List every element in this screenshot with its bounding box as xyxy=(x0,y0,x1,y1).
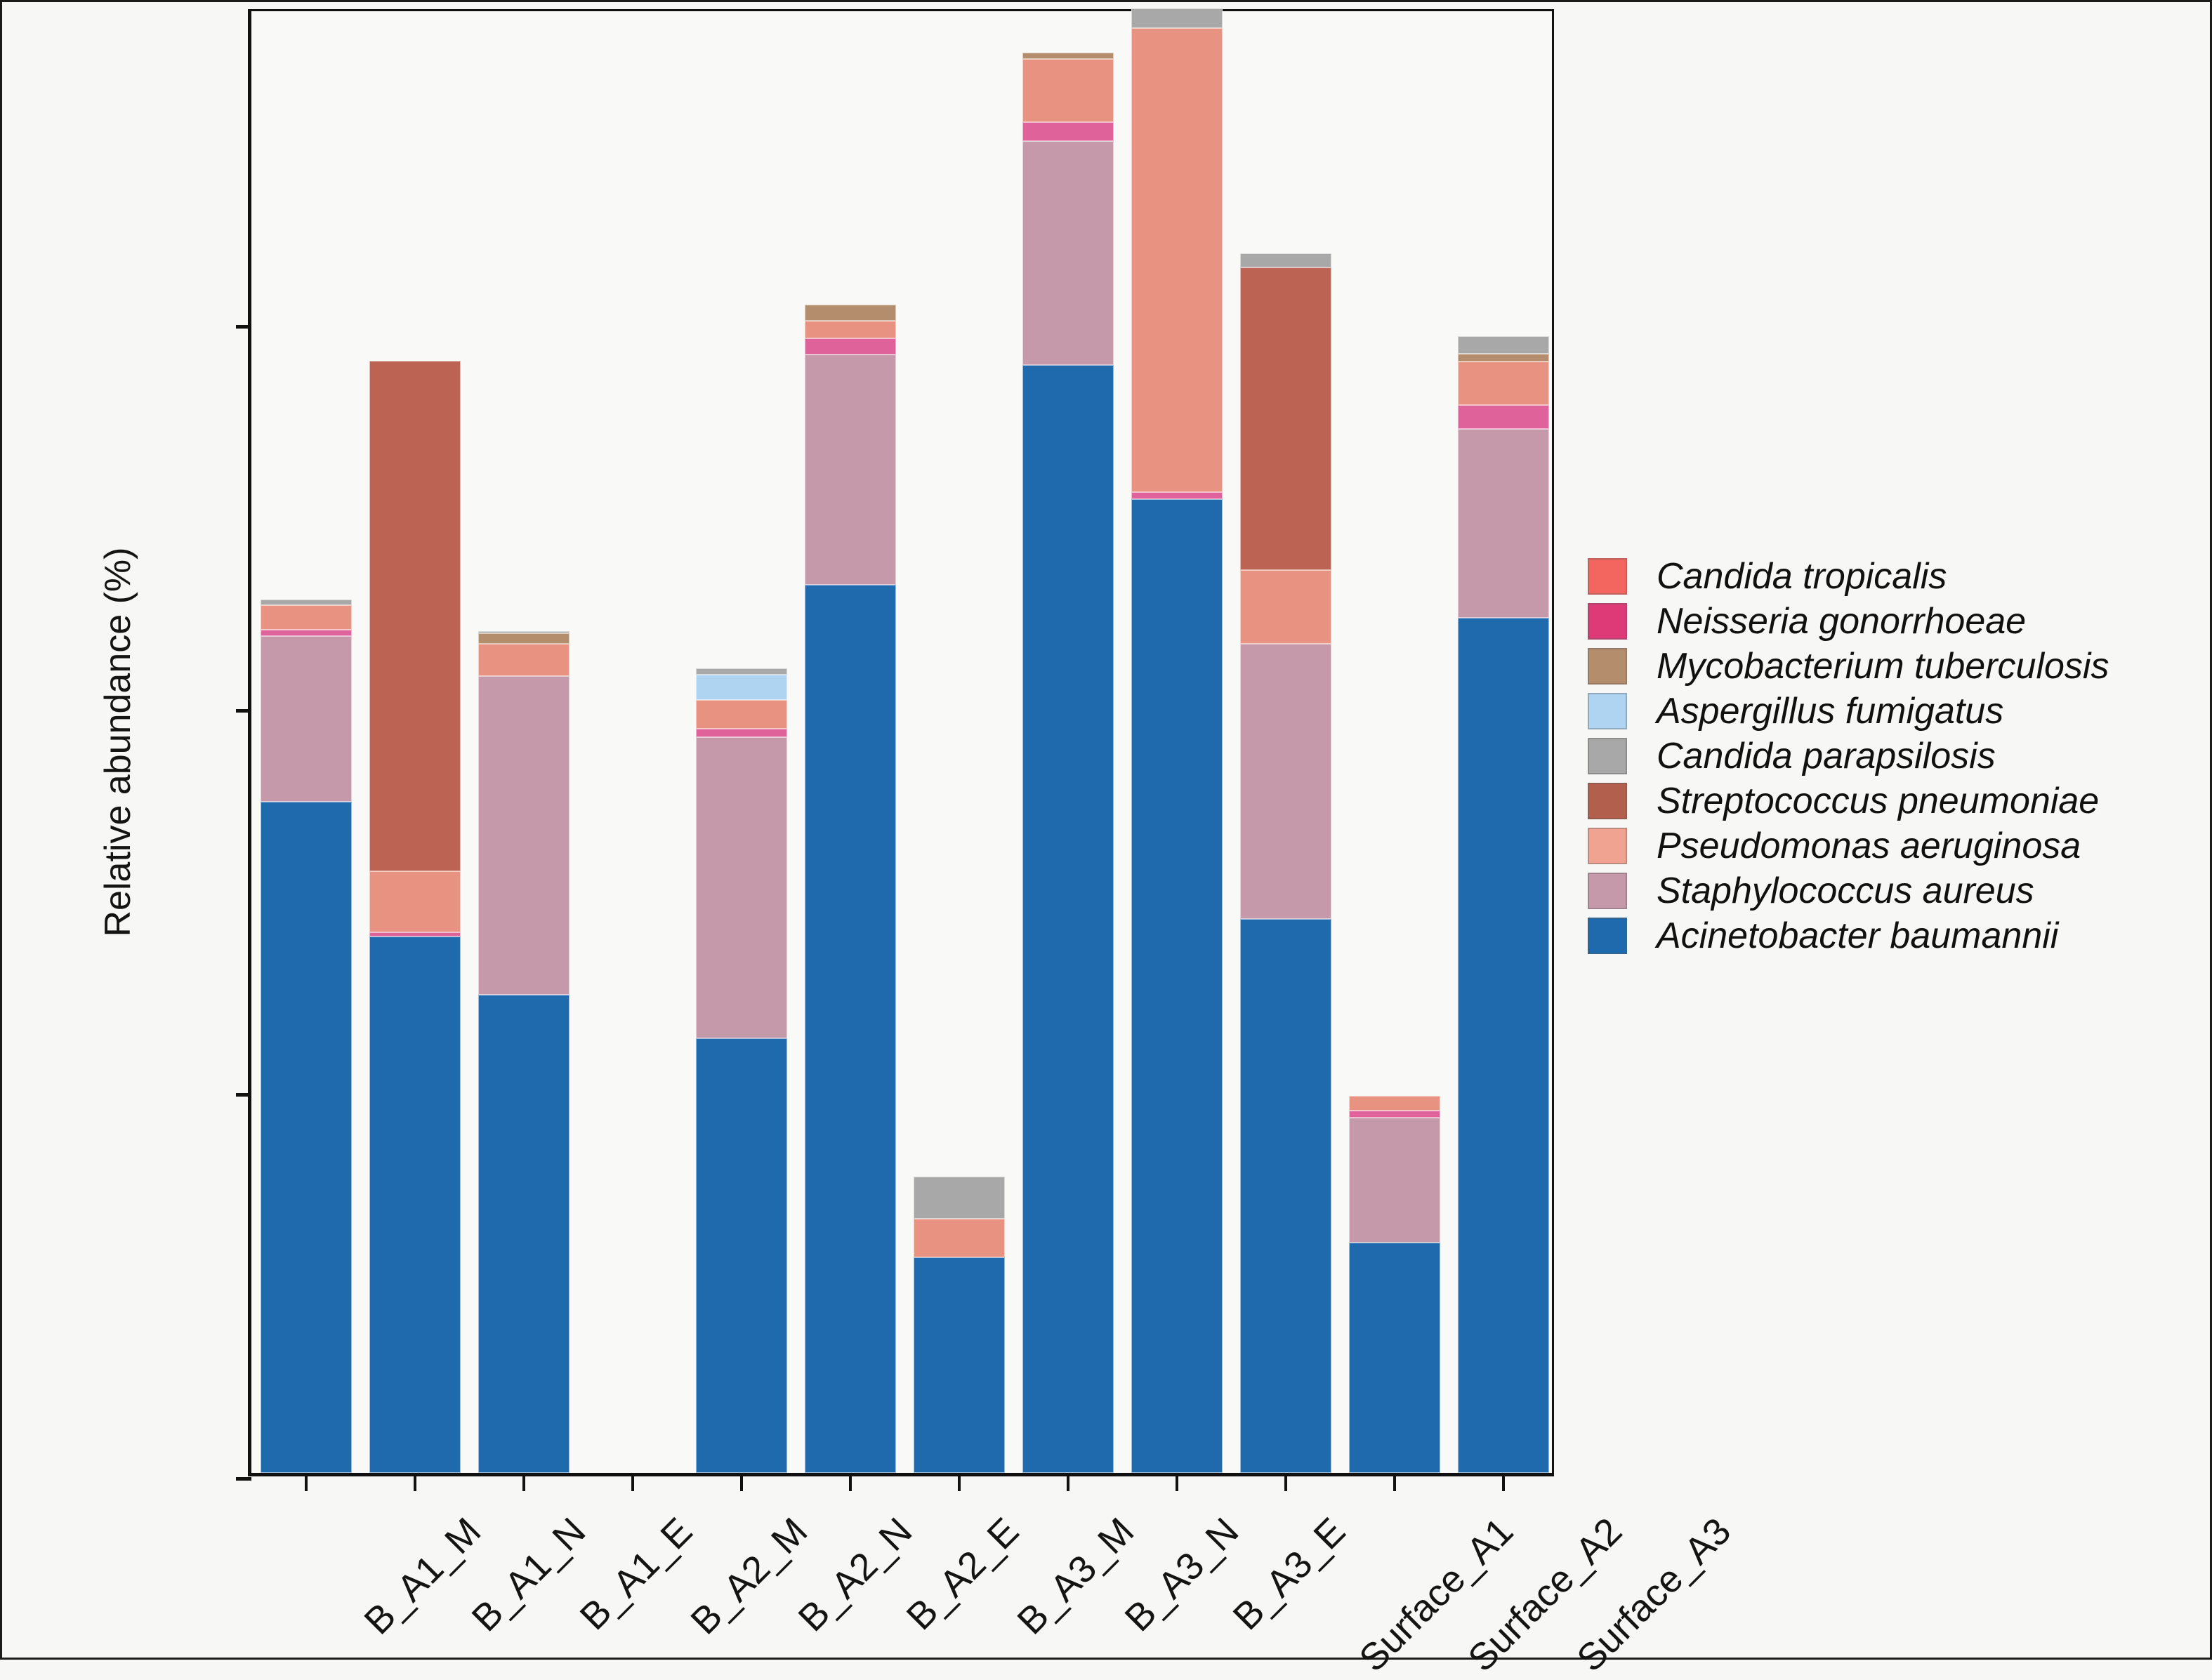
bar-segment[interactable] xyxy=(1458,336,1549,354)
bars-area xyxy=(251,11,1552,1473)
bar-stack[interactable] xyxy=(914,1177,1005,1473)
bar-segment[interactable] xyxy=(478,633,570,644)
legend-item[interactable]: Candida parapsilosis xyxy=(1588,734,2171,779)
legend-item[interactable]: Mycobacterium tuberculosis xyxy=(1588,644,2171,689)
bar-segment[interactable] xyxy=(805,585,896,1473)
bar-segment[interactable] xyxy=(914,1257,1005,1473)
legend-item-label: Acinetobacter baumannii xyxy=(1657,915,2058,957)
legend-item-label: Staphylococcus aureus xyxy=(1657,870,2034,912)
legend-color-swatch xyxy=(1588,558,1627,595)
bar-segment[interactable] xyxy=(696,1038,787,1473)
bar-slot[interactable] xyxy=(1013,11,1122,1473)
bar-segment[interactable] xyxy=(805,338,896,355)
bar-stack[interactable] xyxy=(369,361,461,1473)
bar-segment[interactable] xyxy=(1458,429,1549,618)
bar-segment[interactable] xyxy=(1349,1111,1440,1118)
bar-slot[interactable] xyxy=(687,11,796,1473)
x-tick-label: B_A3_M xyxy=(1008,1509,1142,1643)
bar-segment[interactable] xyxy=(1240,919,1331,1473)
bar-segment[interactable] xyxy=(696,729,787,737)
x-tick-mark xyxy=(414,1474,416,1491)
bar-segment[interactable] xyxy=(261,600,352,605)
y-axis-label: Relative abundance (%) xyxy=(97,426,139,1058)
bar-stack[interactable] xyxy=(1349,1096,1440,1473)
bar-segment[interactable] xyxy=(1458,362,1549,405)
x-tick-mark xyxy=(1502,1474,1505,1491)
bar-segment[interactable] xyxy=(696,700,787,728)
legend-color-swatch xyxy=(1588,828,1627,864)
bar-stack[interactable] xyxy=(478,631,570,1473)
x-tick-mark xyxy=(958,1474,961,1491)
x-tick-mark xyxy=(522,1474,525,1491)
x-tick-mark xyxy=(1067,1474,1069,1491)
legend-color-swatch xyxy=(1588,873,1627,909)
bar-stack[interactable] xyxy=(805,305,896,1473)
bar-segment[interactable] xyxy=(805,355,896,585)
legend-item[interactable]: Pseudomonas aeruginosa xyxy=(1588,824,2171,868)
legend-color-swatch xyxy=(1588,648,1627,684)
y-tick-mark xyxy=(236,1093,251,1097)
legend-item[interactable]: Streptococcus pneumoniae xyxy=(1588,779,2171,824)
bar-segment[interactable] xyxy=(1458,405,1549,429)
bar-slot[interactable] xyxy=(1231,11,1340,1473)
bar-stack[interactable] xyxy=(261,600,352,1473)
x-tick-label: B_A3_E xyxy=(1225,1509,1354,1639)
y-tick-mark xyxy=(236,709,251,713)
bar-segment[interactable] xyxy=(1240,267,1331,570)
bar-segment[interactable] xyxy=(1022,365,1114,1473)
legend-color-swatch xyxy=(1588,693,1627,729)
bar-slot[interactable] xyxy=(1449,11,1558,1473)
bar-segment[interactable] xyxy=(1022,53,1114,59)
legend-item-label: Candida parapsilosis xyxy=(1657,735,1996,777)
bar-segment[interactable] xyxy=(914,1219,1005,1257)
x-tick-mark xyxy=(305,1474,308,1491)
bar-segment[interactable] xyxy=(1022,122,1114,140)
bar-segment[interactable] xyxy=(261,802,352,1473)
bar-stack[interactable] xyxy=(1131,8,1223,1473)
x-tick-label: B_A2_N xyxy=(789,1509,920,1640)
bar-segment[interactable] xyxy=(1131,499,1223,1473)
bar-segment[interactable] xyxy=(478,676,570,995)
bar-segment[interactable] xyxy=(696,675,787,700)
bar-segment[interactable] xyxy=(805,305,896,321)
bar-stack[interactable] xyxy=(1240,253,1331,1473)
bar-segment[interactable] xyxy=(261,605,352,630)
x-tick-label: B_A1_E xyxy=(572,1509,701,1639)
bar-segment[interactable] xyxy=(1022,59,1114,123)
bar-segment[interactable] xyxy=(1131,28,1223,492)
bar-segment[interactable] xyxy=(1022,141,1114,366)
bar-segment[interactable] xyxy=(1131,8,1223,27)
x-tick-label: B_A1_M xyxy=(355,1509,489,1643)
x-tick-mark xyxy=(849,1474,852,1491)
x-tick-label: B_A2_E xyxy=(898,1509,1027,1639)
bar-segment[interactable] xyxy=(805,321,896,338)
bar-slot[interactable] xyxy=(904,11,1013,1473)
x-tick-label: B_A1_N xyxy=(463,1509,593,1640)
legend-color-swatch xyxy=(1588,918,1627,954)
legend-item-label: Aspergillus fumigatus xyxy=(1657,690,2003,732)
legend-color-swatch xyxy=(1588,603,1627,640)
bar-segment[interactable] xyxy=(1240,253,1331,267)
legend-item[interactable]: Acinetobacter baumannii xyxy=(1588,913,2171,958)
bar-slot[interactable] xyxy=(1340,11,1449,1473)
x-tick-mark xyxy=(1284,1474,1287,1491)
bar-segment[interactable] xyxy=(1458,354,1549,362)
bar-segment[interactable] xyxy=(1349,1096,1440,1111)
bar-segment[interactable] xyxy=(369,361,461,872)
bar-slot[interactable] xyxy=(796,11,904,1473)
legend: Candida tropicalisNeisseria gonorrhoeaeM… xyxy=(1588,554,2171,958)
bar-segment[interactable] xyxy=(478,644,570,676)
bar-stack[interactable] xyxy=(1022,53,1114,1473)
x-tick-mark xyxy=(740,1474,743,1491)
bar-segment[interactable] xyxy=(1240,570,1331,644)
legend-item[interactable]: Neisseria gonorrhoeae xyxy=(1588,599,2171,644)
legend-item-label: Mycobacterium tuberculosis xyxy=(1657,645,2109,687)
x-tick-mark xyxy=(1393,1474,1396,1491)
figure-container: Relative abundance (%) 00.0050.0100.015 … xyxy=(0,0,2212,1660)
bar-segment[interactable] xyxy=(261,630,352,637)
y-tick-mark xyxy=(236,325,251,329)
legend-color-swatch xyxy=(1588,738,1627,774)
bar-stack[interactable] xyxy=(1458,336,1549,1473)
x-tick-mark xyxy=(1176,1474,1178,1491)
x-tick-label: B_A3_N xyxy=(1116,1509,1246,1640)
bar-segment[interactable] xyxy=(696,668,787,675)
legend-item-label: Pseudomonas aeruginosa xyxy=(1657,825,2081,867)
legend-item[interactable]: Aspergillus fumigatus xyxy=(1588,689,2171,734)
x-tick-mark xyxy=(631,1474,634,1491)
x-tick-label: B_A2_M xyxy=(682,1509,815,1643)
legend-item-label: Candida tropicalis xyxy=(1657,555,1947,597)
bar-segment[interactable] xyxy=(1458,618,1549,1473)
bar-segment[interactable] xyxy=(1349,1243,1440,1473)
bar-segment[interactable] xyxy=(1240,644,1331,919)
legend-color-swatch xyxy=(1588,783,1627,819)
bar-slot[interactable] xyxy=(360,11,469,1473)
bar-slot[interactable] xyxy=(578,11,687,1473)
legend-item-label: Streptococcus pneumoniae xyxy=(1657,780,2099,822)
bar-stack[interactable] xyxy=(696,668,787,1473)
plot-panel: Relative abundance (%) 00.0050.0100.015 … xyxy=(248,9,1554,1476)
bar-segment[interactable] xyxy=(369,871,461,932)
bar-segment[interactable] xyxy=(696,737,787,1038)
y-tick-mark xyxy=(236,1477,251,1481)
bar-segment[interactable] xyxy=(369,937,461,1473)
bar-segment[interactable] xyxy=(1349,1118,1440,1242)
bar-segment[interactable] xyxy=(1131,492,1223,499)
legend-item[interactable]: Staphylococcus aureus xyxy=(1588,868,2171,913)
legend-item-label: Neisseria gonorrhoeae xyxy=(1657,600,2026,642)
legend-item[interactable]: Candida tropicalis xyxy=(1588,554,2171,599)
bar-segment[interactable] xyxy=(478,995,570,1473)
bar-segment[interactable] xyxy=(914,1177,1005,1219)
bar-slot[interactable] xyxy=(1122,11,1231,1473)
bar-segment[interactable] xyxy=(261,636,352,801)
bar-slot[interactable] xyxy=(251,11,360,1473)
bar-slot[interactable] xyxy=(469,11,578,1473)
